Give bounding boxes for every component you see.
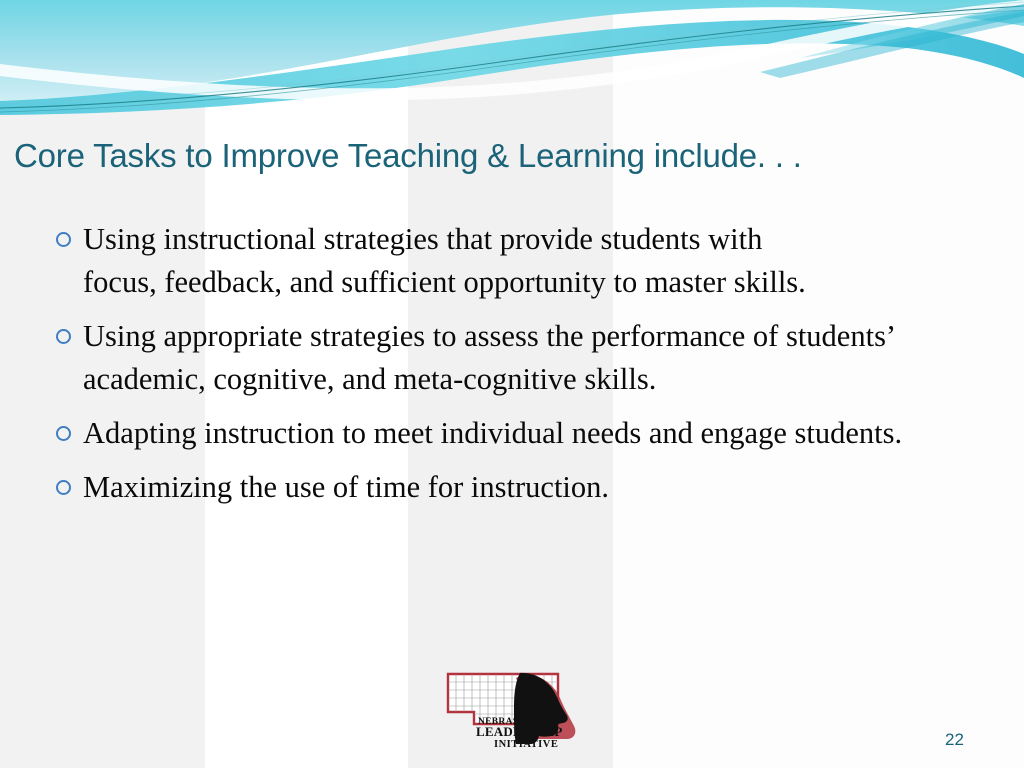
list-item: Using instructional strategies that prov… [56,218,986,304]
list-item: Adapting instruction to meet individual … [56,412,986,455]
nebraska-leadership-initiative-logo: NEBRASKA LEADERSHIP INITIATIVE [444,668,584,750]
hollow-circle-bullet-icon [56,232,71,247]
logo-line-2: LEADERSHIP [476,724,563,739]
list-item-text: Adapting instruction to meet individual … [83,412,973,455]
list-item: Using appropriate strategies to assess t… [56,315,986,401]
header-wave-decoration [0,0,1024,115]
slide-body-list: Using instructional strategies that prov… [56,218,986,520]
hollow-circle-bullet-icon [56,426,71,441]
slide-title: Core Tasks to Improve Teaching & Learnin… [14,137,1014,175]
hollow-circle-bullet-icon [56,480,71,495]
presentation-slide: Core Tasks to Improve Teaching & Learnin… [0,0,1024,768]
list-item-text: Maximizing the use of time for instructi… [83,466,983,509]
hollow-circle-bullet-icon [56,329,71,344]
page-number: 22 [945,730,964,750]
logo-line-3: INITIATIVE [494,739,558,750]
list-item: Maximizing the use of time for instructi… [56,466,986,509]
list-item-text: Using instructional strategies that prov… [83,218,843,304]
list-item-text: Using appropriate strategies to assess t… [83,315,963,401]
